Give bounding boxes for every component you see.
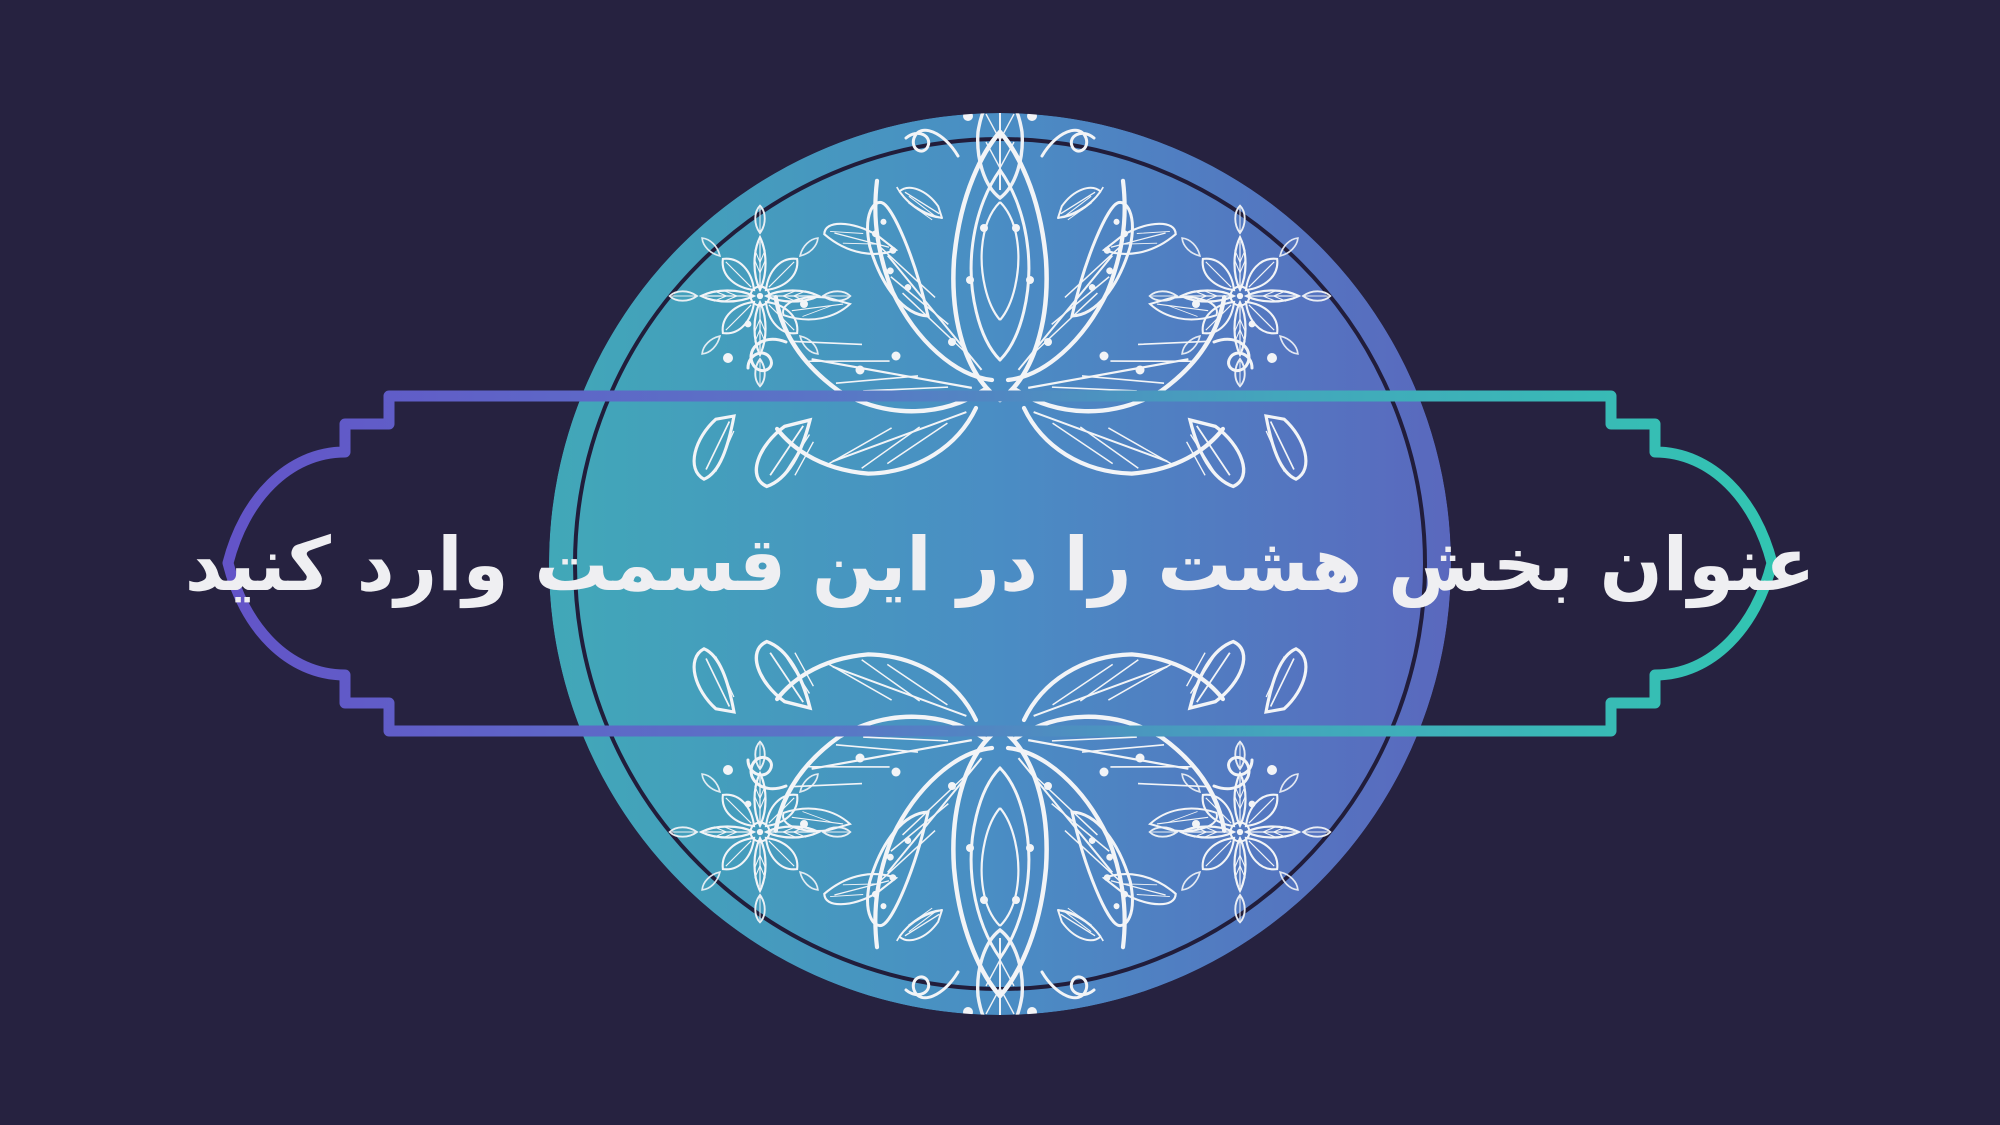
slide-canvas: عنوان بخش هشت را در این قسمت وارد کنید (0, 0, 2000, 1125)
page-title[interactable]: عنوان بخش هشت را در این قسمت وارد کنید (185, 519, 1816, 612)
